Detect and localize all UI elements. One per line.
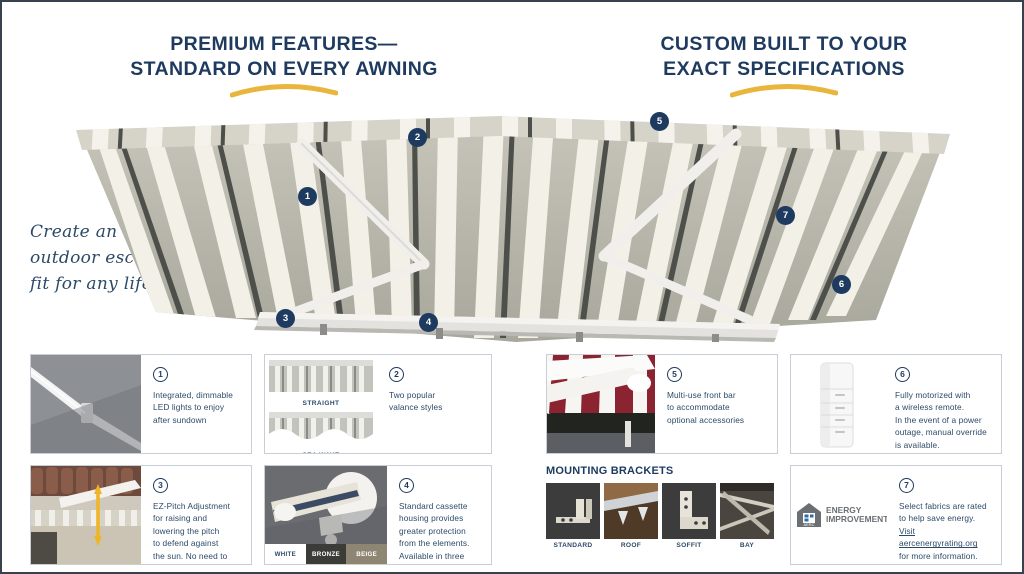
hero-callout-1[interactable]: 1 [298,187,317,206]
feature-card-5[interactable]: 5 Multi-use front bar to accommodate opt… [546,354,778,454]
card-4-line-6: popular colors. [399,563,455,565]
card-3-number-badge: 3 [153,478,168,493]
bracket-label-standard: STANDARD [546,542,600,549]
card-3-line-1: EZ-Pitch Adjustment [153,501,230,511]
bracket-label-bay: BAY [720,542,774,549]
awning-features-infographic: PREMIUM FEATURES— STANDARD ON EVERY AWNI… [0,0,1024,574]
headline-left-line2: STANDARD ON EVERY AWNING [114,57,454,82]
card-4-line-3: greater protection [399,526,466,536]
hero-callout-7[interactable]: 7 [776,206,795,225]
front-bar-photo [547,355,655,453]
feature-card-3[interactable]: 3 EZ-Pitch Adjustment for raising and lo… [30,465,252,565]
card-1-line-3: after sundown [153,415,206,425]
feature-card-7[interactable]: AERC ENERGY IMPROVEMENT 7 Select fabrics… [790,465,1002,565]
hero-callout-6[interactable]: 6 [832,275,851,294]
card-7-number-badge: 7 [899,478,914,493]
feature-card-4[interactable]: WHITE BRONZE BEIGE 4 Standard cassette h… [264,465,492,565]
card-1-line-2: LED lights to enjoy [153,402,224,412]
card-6-line-4: outage, manual override [895,427,987,437]
bracket-item-standard[interactable]: STANDARD [546,483,600,549]
card-5-number-badge: 5 [667,367,682,382]
card-4-number-badge: 4 [399,478,414,493]
swatch-white[interactable]: WHITE [265,544,306,564]
up-down-arrow-icon [93,482,103,548]
card-5-line-2: to accommodate [667,402,730,412]
soffit-bracket-photo [662,483,716,539]
energy-badge-line-2: IMPROVEMENT [826,515,887,524]
card-1-number-badge: 1 [153,367,168,382]
mounting-brackets-title: MOUNTING BRACKETS [546,465,778,477]
svg-text:AERC: AERC [803,522,814,527]
energy-improvement-badge: AERC ENERGY IMPROVEMENT [791,466,887,564]
valance-styles-photo: STRAIGHT [265,355,377,453]
card-4-line-2: housing provides [399,513,463,523]
swatch-bronze[interactable]: BRONZE [306,544,347,564]
headline-right-line1: CUSTOM BUILT TO YOUR [614,32,954,57]
headline-left: PREMIUM FEATURES— STANDARD ON EVERY AWNI… [114,32,454,82]
card-6-line-5: is available. [895,440,940,450]
card-3-line-2: for raising and [153,513,207,523]
sea-wave-valance-icon [269,412,373,444]
card-6-line-3: In the event of a power [895,415,982,425]
card-1-line-1: Integrated, dimmable [153,390,233,400]
hero-callout-5[interactable]: 5 [650,112,669,131]
card-6-number-badge: 6 [895,367,910,382]
card-2-line-2: valance styles [389,402,443,412]
card-3-line-3: lowering the pitch [153,526,219,536]
feature-card-5-text: 5 Multi-use front bar to accommodate opt… [655,355,777,453]
card-7-line-3-link[interactable]: Visit aercenergyrating.org [899,526,978,548]
color-swatch-row: WHITE BRONZE BEIGE [265,544,387,564]
led-light-strip-photo [31,355,141,453]
gold-swoosh-icon [230,82,338,98]
card-6-line-2: a wireless remote. [895,402,964,412]
valance-label-straight: STRAIGHT [269,400,373,407]
hero-awning-photo [64,106,964,342]
wireless-remote-photo [791,355,883,453]
card-6-line-1: Fully motorized with [895,390,970,400]
bay-bracket-photo [720,483,774,539]
bracket-item-soffit[interactable]: SOFFIT [662,483,716,549]
bracket-item-roof[interactable]: ROOF [604,483,658,549]
feature-card-2[interactable]: STRAIGHT [264,354,492,454]
headline-right: CUSTOM BUILT TO YOUR EXACT SPECIFICATION… [614,32,954,82]
mounting-brackets-row: STANDARD ROOF [546,483,778,549]
swatch-beige[interactable]: BEIGE [346,544,387,564]
gold-swoosh-icon [730,82,838,98]
feature-card-6[interactable]: 6 Fully motorized with a wireless remote… [790,354,1002,454]
feature-card-1-text: 1 Integrated, dimmable LED lights to enj… [141,355,251,453]
card-4-line-4: from the elements. [399,538,470,548]
feature-card-1[interactable]: 1 Integrated, dimmable LED lights to enj… [30,354,252,454]
feature-card-4-text: 4 Standard cassette housing provides gre… [387,466,491,564]
hero-callout-2[interactable]: 2 [408,128,427,147]
card-5-line-1: Multi-use front bar [667,390,736,400]
headline-right-line2: EXACT SPECIFICATIONS [614,57,954,82]
hero-callout-4[interactable]: 4 [419,313,438,332]
card-3-line-4: to defend against [153,538,218,548]
hero-callout-3[interactable]: 3 [276,309,295,328]
card-3-line-6: call a technician! [153,563,216,565]
card-2-number-badge: 2 [389,367,404,382]
card-3-line-5: the sun. No need to [153,551,227,561]
cassette-housing-photo: WHITE BRONZE BEIGE [265,466,387,564]
valance-label-sea-wave: SEA WAVE [269,452,373,453]
feature-card-6-text: 6 Fully motorized with a wireless remote… [883,355,1001,453]
house-energy-icon: AERC [795,501,823,529]
card-7-line-4: for more information. [899,551,978,561]
standard-bracket-photo [546,483,600,539]
mounting-brackets-panel: MOUNTING BRACKETS STANDARD [546,465,778,565]
straight-valance-icon [269,360,373,392]
card-5-line-3: optional accessories [667,415,744,425]
bracket-item-bay[interactable]: BAY [720,483,774,549]
ez-pitch-adjustment-photo [31,466,141,564]
feature-card-7-text: 7 Select fabrics are rated to help save … [887,466,1001,564]
card-2-line-1: Two popular [389,390,435,400]
bracket-label-soffit: SOFFIT [662,542,716,549]
card-7-line-2: to help save energy. [899,513,975,523]
roof-bracket-photo [604,483,658,539]
feature-card-2-text: 2 Two popular valance styles [377,355,491,453]
card-4-line-1: Standard cassette [399,501,468,511]
headline-left-line1: PREMIUM FEATURES— [114,32,454,57]
bracket-label-roof: ROOF [604,542,658,549]
feature-card-3-text: 3 EZ-Pitch Adjustment for raising and lo… [141,466,251,564]
card-4-line-5: Available in three [399,551,464,561]
card-7-line-1: Select fabrics are rated [899,501,987,511]
